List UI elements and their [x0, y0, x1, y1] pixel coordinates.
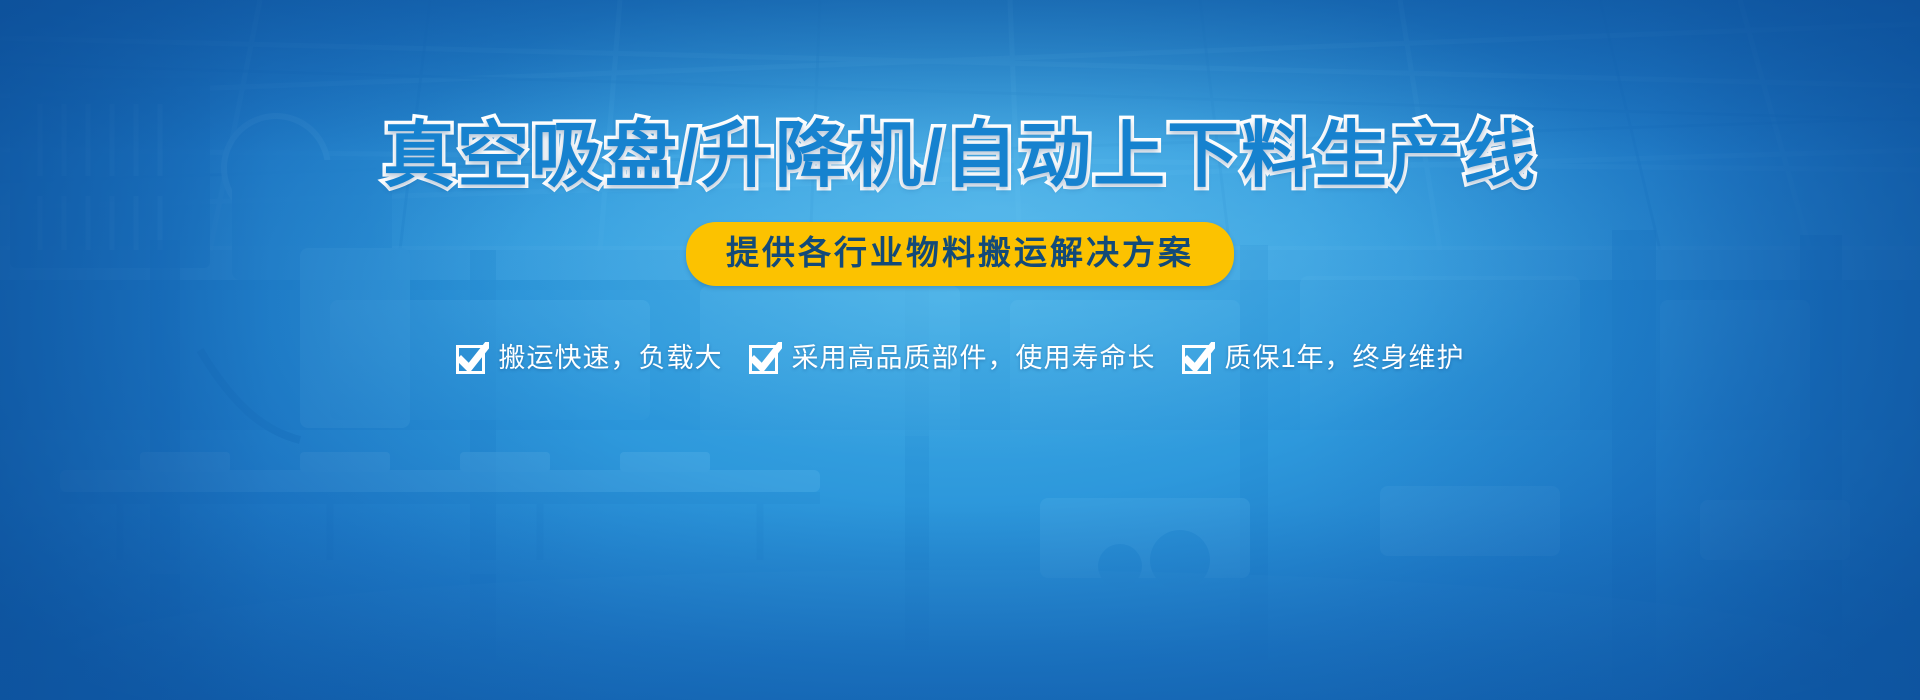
check-box-icon	[1181, 342, 1215, 376]
feature-item-3: 质保1年，终身维护	[1181, 342, 1464, 376]
banner-subtitle-pill: 提供各行业物料搬运解决方案	[686, 222, 1234, 286]
feature-item-1: 搬运快速，负载大	[455, 342, 722, 376]
feature-label-2: 采用高品质部件，使用寿命长	[791, 345, 1155, 372]
check-box-icon	[455, 342, 489, 376]
banner-headline: 真空吸盘/升降机/自动上下料生产线	[383, 118, 1537, 196]
promo-banner: 真空吸盘/升降机/自动上下料生产线 提供各行业物料搬运解决方案 搬运快速，负载大…	[0, 0, 1920, 700]
banner-content: 真空吸盘/升降机/自动上下料生产线 提供各行业物料搬运解决方案 搬运快速，负载大…	[0, 0, 1920, 700]
check-box-icon	[748, 342, 782, 376]
feature-label-1: 搬运快速，负载大	[498, 345, 722, 372]
feature-item-2: 采用高品质部件，使用寿命长	[748, 342, 1155, 376]
feature-label-3: 质保1年，终身维护	[1224, 345, 1464, 372]
feature-list: 搬运快速，负载大 采用高品质部件，使用寿命长 质保1年，终身维护	[455, 342, 1464, 376]
